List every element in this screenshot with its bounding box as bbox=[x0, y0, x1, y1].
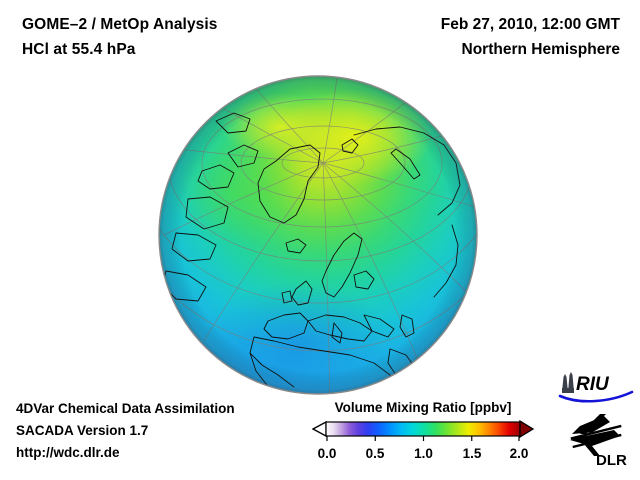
colorbar-scale bbox=[312, 419, 534, 445]
dlr-emblem-icon bbox=[570, 414, 622, 456]
credit-line-method: 4DVar Chemical Data Assimilation bbox=[16, 398, 235, 420]
colorbar-tick-labels: 0.0 0.5 1.0 1.5 2.0 bbox=[312, 446, 534, 464]
orthographic-globe bbox=[158, 75, 478, 395]
dlr-logo-graphic: DLR bbox=[566, 412, 634, 468]
colorbar-over-arrow bbox=[520, 421, 533, 437]
riu-logo-graphic: RIU bbox=[556, 370, 636, 406]
colorbar-tick-4: 2.0 bbox=[510, 446, 529, 461]
species-level-title: HCl at 55.4 hPa bbox=[22, 37, 218, 62]
colorbar-block: Volume Mixing Ratio [ppbv] bbox=[312, 400, 534, 464]
datetime-label: Feb 27, 2010, 12:00 GMT bbox=[441, 12, 620, 37]
header-left: GOME–2 / MetOp Analysis HCl at 55.4 hPa bbox=[22, 12, 218, 62]
colorbar-tick-3: 1.5 bbox=[463, 446, 482, 461]
hemisphere-label: Northern Hemisphere bbox=[441, 37, 620, 62]
colorbar-tick-2: 1.0 bbox=[414, 446, 433, 461]
globe-map bbox=[158, 75, 478, 395]
dlr-wordmark: DLR bbox=[596, 452, 627, 468]
colorbar-tick-0: 0.0 bbox=[318, 446, 337, 461]
colorbar-title: Volume Mixing Ratio [ppbv] bbox=[312, 400, 534, 415]
colorbar-tick-1: 0.5 bbox=[366, 446, 385, 461]
dlr-logo: DLR bbox=[566, 412, 634, 468]
colorbar-gradient bbox=[326, 422, 520, 436]
cathedral-icon bbox=[562, 372, 574, 393]
visualization-page: GOME–2 / MetOp Analysis HCl at 55.4 hPa … bbox=[0, 0, 640, 480]
riu-wordmark: RIU bbox=[576, 374, 610, 395]
header-right: Feb 27, 2010, 12:00 GMT Northern Hemisph… bbox=[441, 12, 620, 62]
colorbar-tickmarks bbox=[327, 436, 519, 441]
limb-shading bbox=[159, 76, 477, 394]
riu-logo: RIU bbox=[556, 370, 636, 406]
credit-line-url: http://wdc.dlr.de bbox=[16, 442, 235, 464]
instrument-title: GOME–2 / MetOp Analysis bbox=[22, 12, 218, 37]
credits-block: 4DVar Chemical Data Assimilation SACADA … bbox=[16, 398, 235, 464]
credit-line-version: SACADA Version 1.7 bbox=[16, 420, 235, 442]
colorbar-under-arrow bbox=[313, 422, 326, 436]
